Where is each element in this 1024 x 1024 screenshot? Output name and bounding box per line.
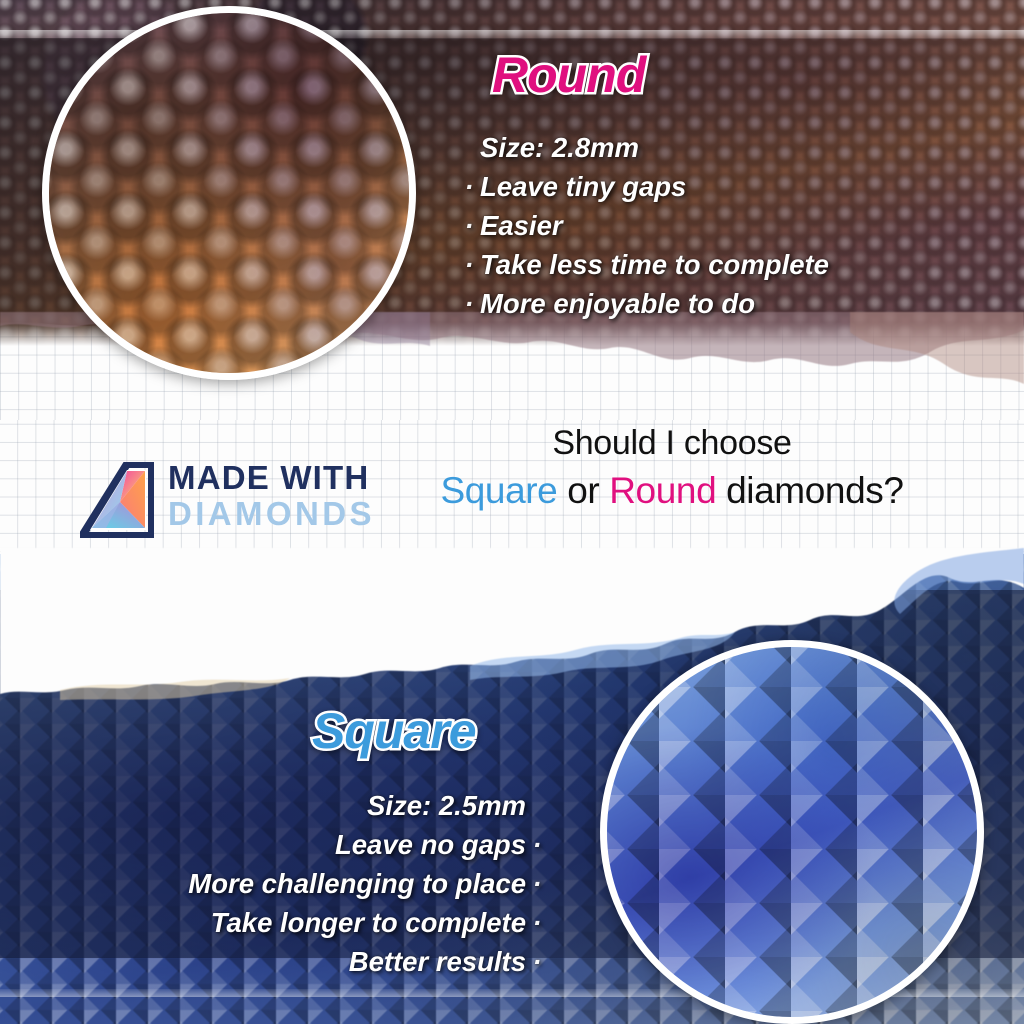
round-size-row: Size: 2.8mm — [458, 128, 829, 167]
infographic-canvas: Round Size: 2.8mm ·Leave tiny gaps ·Easi… — [0, 0, 1024, 1024]
round-diamond-closeup-inset — [42, 6, 416, 380]
question-word-square: Square — [440, 470, 557, 511]
square-size-row: Size: 2.5mm — [0, 786, 548, 825]
question-word-tail: diamonds? — [716, 470, 903, 511]
question-word-round: Round — [609, 470, 716, 511]
round-bullet-label: Easier — [480, 210, 563, 241]
round-bullet-label: Leave tiny gaps — [480, 171, 686, 202]
round-bullet-label: More enjoyable to do — [480, 288, 755, 319]
bullet-dot-icon: · — [526, 942, 548, 981]
question-word-or: or — [557, 470, 609, 511]
bullet-dot-icon: · — [526, 864, 548, 903]
question-line-1: Should I choose — [0, 424, 1024, 463]
bullet-dot-icon: · — [458, 206, 480, 245]
square-bullet-label: Leave no gaps — [335, 829, 526, 860]
round-bullet-row: ·Leave tiny gaps — [458, 167, 829, 206]
brand-logo-line2: DIAMONDS — [168, 496, 375, 532]
square-feature-list: Size: 2.5mm Leave no gaps· More challeng… — [0, 786, 548, 981]
round-feature-list: Size: 2.8mm ·Leave tiny gaps ·Easier ·Ta… — [458, 128, 829, 323]
bullet-dot-icon: · — [526, 825, 548, 864]
bullet-dot-icon: · — [458, 167, 480, 206]
brand-logo-line1: MADE WITH — [168, 460, 375, 496]
square-bullet-row: More challenging to place· — [0, 864, 548, 903]
square-bullet-label: Better results — [349, 946, 526, 977]
round-bullet-row: ·Easier — [458, 206, 829, 245]
square-diamond-closeup-inset — [600, 640, 984, 1024]
round-bullet-label: Take less time to complete — [480, 249, 829, 280]
question-line-1-text: Should I choose — [232, 424, 791, 462]
square-bullet-label: Take longer to complete — [211, 907, 526, 938]
square-bullet-row: Leave no gaps· — [0, 825, 548, 864]
round-bullet-row: ·More enjoyable to do — [458, 284, 829, 323]
square-bullet-row: Take longer to complete· — [0, 903, 548, 942]
square-bullet-row: Better results· — [0, 942, 548, 981]
diamond-gem-icon — [80, 462, 154, 538]
bullet-dot-icon: · — [526, 903, 548, 942]
round-title: Round — [492, 50, 645, 100]
round-bullet-row: ·Take less time to complete — [458, 245, 829, 284]
brand-logo-wordmark: MADE WITH DIAMONDS — [168, 460, 375, 532]
round-inset-tint — [49, 13, 409, 373]
bullet-dot-icon: · — [458, 284, 480, 323]
square-inset-tint — [607, 647, 977, 1017]
brand-logo[interactable]: MADE WITH DIAMONDS — [80, 462, 390, 544]
bullet-dot-icon: · — [458, 245, 480, 284]
square-bullet-label: More challenging to place — [188, 868, 526, 899]
square-title: Square — [312, 706, 476, 756]
